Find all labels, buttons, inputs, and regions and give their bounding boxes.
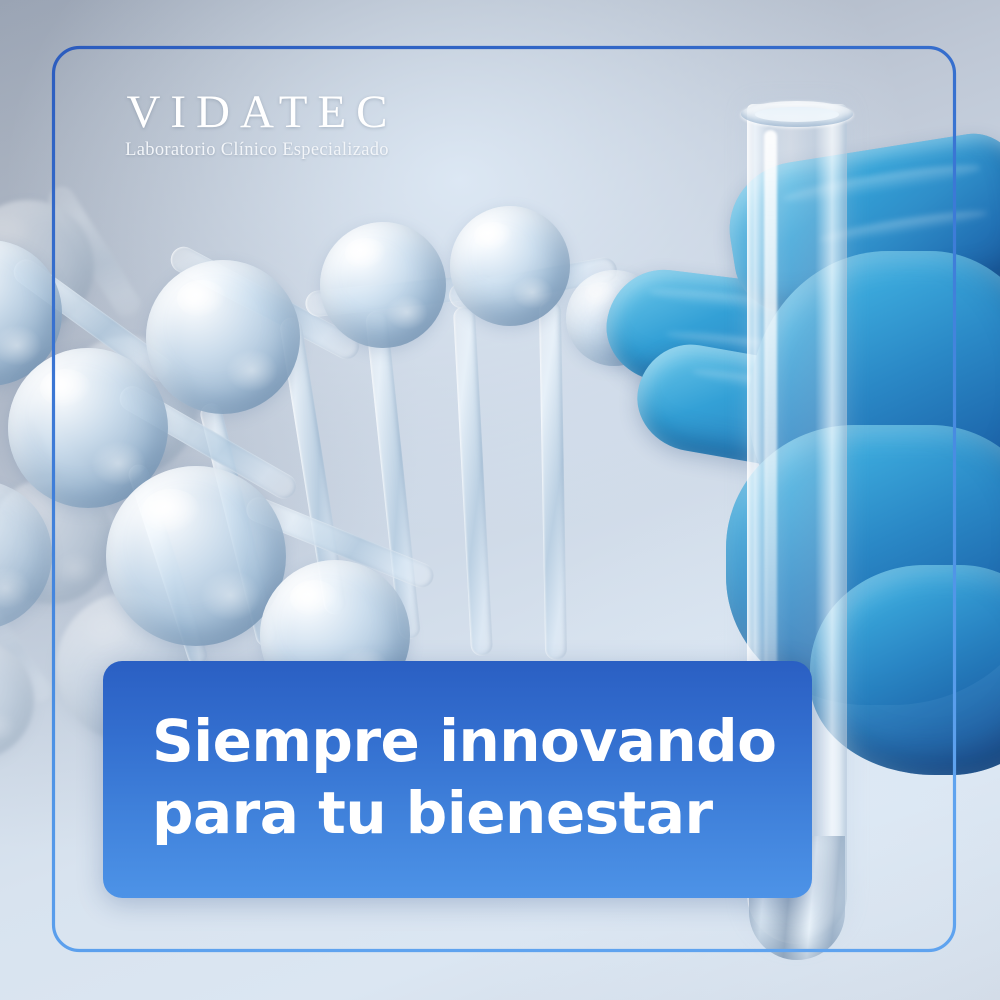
brand-logo: VIDATEC Laboratorio Clínico Especializad… (92, 88, 422, 161)
headline-text: Siempre innovando para tu bienestar (152, 705, 792, 849)
test-tube-rim-inner (755, 107, 839, 122)
promotional-poster: VIDATEC Laboratorio Clínico Especializad… (0, 0, 1000, 1000)
headline-banner: Siempre innovando para tu bienestar (103, 661, 812, 898)
test-tube-rim (741, 101, 853, 127)
headline-line-2: para tu bienestar (152, 777, 792, 849)
gloved-hand (600, 95, 1000, 735)
brand-tagline: Laboratorio Clínico Especializado (92, 140, 422, 161)
brand-name: VIDATEC (92, 88, 422, 138)
headline-line-1: Siempre innovando (152, 705, 792, 777)
